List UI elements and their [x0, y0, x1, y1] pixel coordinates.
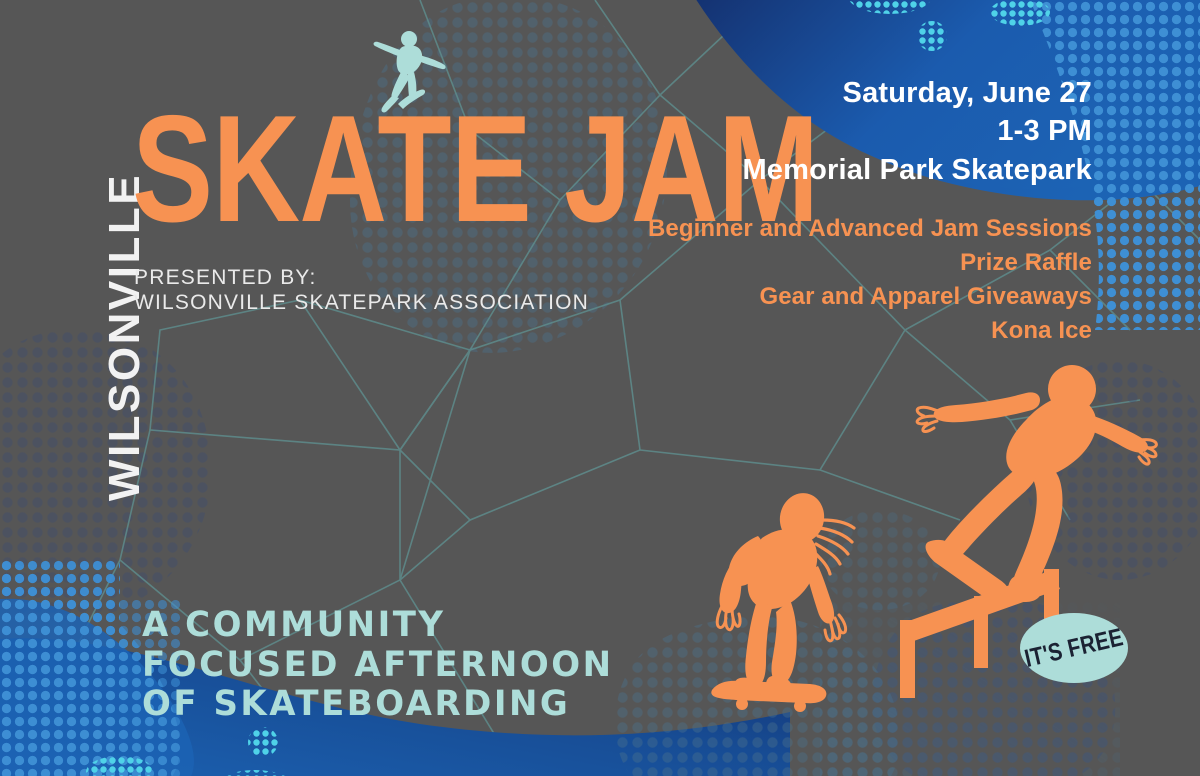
tagline-block: A COMMUNITY FOCUSED AFTERNOON OF SKATEBO… [142, 606, 614, 725]
presented-by-org: WILSONVILLE SKATEPARK ASSOCIATION [134, 291, 589, 316]
presented-by-label: PRESENTED BY: [134, 266, 589, 291]
halftone-blob-bottom-center [600, 590, 920, 776]
cyan-dot-cluster-top [848, 0, 1050, 51]
halftone-patch-right-low [820, 510, 940, 610]
feature-item: Prize Raffle [648, 246, 1092, 280]
feature-item: Beginner and Advanced Jam Sessions [648, 212, 1092, 246]
event-time: 1-3 PM [742, 112, 1092, 150]
tagline-line: A COMMUNITY [142, 606, 614, 646]
free-badge-label: IT'S FREE [1022, 623, 1126, 674]
feature-item: Kona Ice [648, 314, 1092, 348]
tagline-line: OF SKATEBOARDING [142, 685, 614, 725]
event-location: Memorial Park Skatepark [742, 151, 1092, 189]
free-badge: IT'S FREE [1020, 613, 1128, 683]
event-date: Saturday, June 27 [742, 74, 1092, 112]
poster-canvas: WILSONVILLE SKATE JAM PRESENTED BY: WILS… [0, 0, 1200, 776]
event-features-list: Beginner and Advanced Jam Sessions Prize… [648, 212, 1092, 348]
tagline-line: FOCUSED AFTERNOON [142, 646, 614, 686]
feature-item: Gear and Apparel Giveaways [648, 280, 1092, 314]
cyan-dot-cluster-bottom [86, 727, 297, 776]
event-info-block: Saturday, June 27 1-3 PM Memorial Park S… [742, 74, 1092, 189]
halftone-patch-right-mid [1025, 360, 1200, 580]
presented-by: PRESENTED BY: WILSONVILLE SKATEPARK ASSO… [134, 266, 589, 316]
